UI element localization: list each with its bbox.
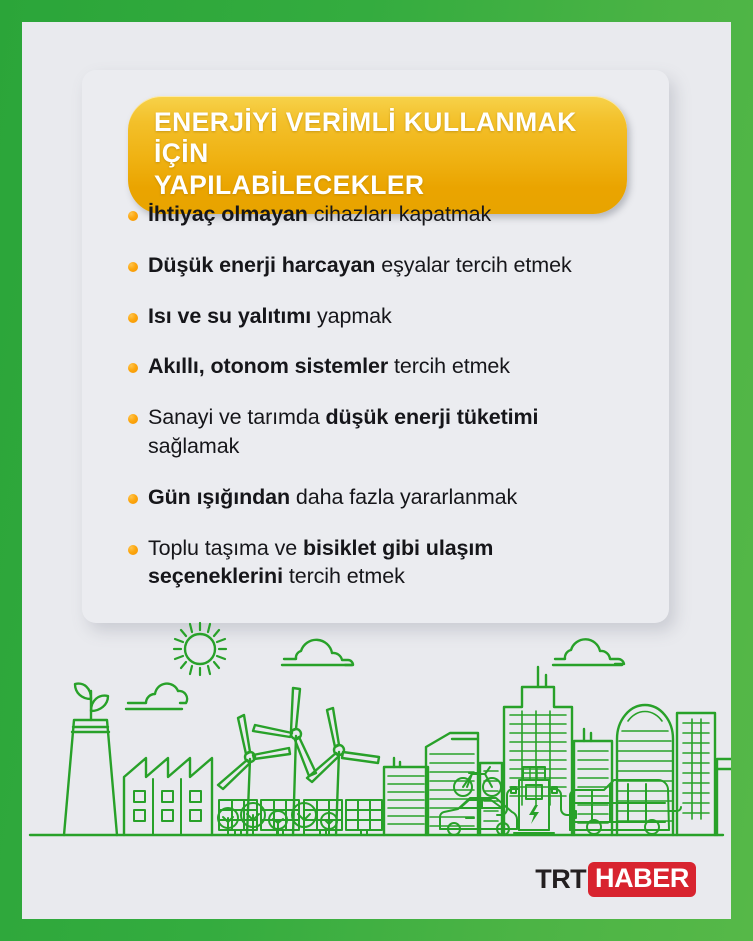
list-item-bold-lead: Akıllı, otonom sistemler: [148, 354, 388, 378]
list-item-bold-lead: Düşük enerji harcayan: [148, 253, 375, 277]
logo-haber-badge: HABER: [588, 862, 696, 897]
title-banner: ENERJİYİ VERİMLİ KULLANMAK İÇİN YAPILABİ…: [128, 96, 627, 214]
factory-building-icon: [124, 758, 212, 835]
list-item-bold-lead: Gün ışığından: [148, 485, 290, 509]
list-item: Toplu taşıma ve bisiklet gibi ulaşım seç…: [128, 534, 633, 592]
list-item: Isı ve su yalıtımı yapmak: [128, 302, 633, 331]
bullet-icon: [128, 414, 138, 424]
bullet-icon: [128, 211, 138, 221]
tips-list: İhtiyaç olmayan cihazları kapatmak Düşük…: [128, 200, 633, 591]
list-item-text: cihazları kapatmak: [308, 202, 491, 226]
sun-icon: [174, 623, 226, 675]
bullet-icon: [128, 545, 138, 555]
bullet-icon: [128, 313, 138, 323]
building-icon: [677, 713, 715, 835]
cloud-icon: [282, 640, 353, 665]
list-item: Akıllı, otonom sistemler tercih etmek: [128, 352, 633, 381]
trt-haber-logo: TRT HABER: [535, 862, 696, 897]
list-item-text: eşyalar tercih etmek: [375, 253, 571, 277]
cloud-icon: [553, 639, 624, 665]
ev-charger-icon: [497, 767, 571, 833]
solar-panel-icon: [346, 800, 382, 835]
cloud-icon: [126, 684, 187, 709]
bullet-icon: [128, 363, 138, 373]
content-card: ENERJİYİ VERİMLİ KULLANMAK İÇİN YAPILABİ…: [82, 70, 669, 623]
list-item-text-end: sağlamak: [148, 434, 239, 458]
list-item-text: Sanayi ve tarımda: [148, 405, 325, 429]
bullet-icon: [128, 262, 138, 272]
list-item: Sanayi ve tarımda düşük enerji tüketimi …: [128, 403, 633, 461]
list-item-bold-tail: düşük enerji tüketimi: [325, 405, 538, 429]
list-item-text: Toplu taşıma ve: [148, 536, 303, 560]
list-item: İhtiyaç olmayan cihazları kapatmak: [128, 200, 633, 229]
list-item: Gün ışığından daha fazla yararlanmak: [128, 483, 633, 512]
factory-icon: [64, 720, 117, 835]
bullet-icon: [128, 494, 138, 504]
list-item-bold-lead: İhtiyaç olmayan: [148, 202, 308, 226]
leaf-icon: [75, 684, 108, 720]
building-icon: [426, 733, 478, 835]
logo-trt-text: TRT: [535, 864, 586, 895]
building-icon: [717, 759, 731, 835]
list-item-text: tercih etmek: [388, 354, 510, 378]
poster-frame: ENERJİYİ VERİMLİ KULLANMAK İÇİN YAPILABİ…: [0, 0, 753, 941]
poster-page: ENERJİYİ VERİMLİ KULLANMAK İÇİN YAPILABİ…: [22, 22, 731, 919]
list-item-text: daha fazla yararlanmak: [290, 485, 517, 509]
eco-city-illustration: [22, 619, 731, 869]
title-banner-wrapper: ENERJİYİ VERİMLİ KULLANMAK İÇİN YAPILABİ…: [128, 96, 627, 214]
list-item-bold-lead: Isı ve su yalıtımı: [148, 304, 311, 328]
building-icon: [384, 758, 428, 835]
list-item: Düşük enerji harcayan eşyalar tercih etm…: [128, 251, 633, 280]
list-item-text: yapmak: [311, 304, 392, 328]
bus-icon: [570, 780, 681, 834]
page-title: ENERJİYİ VERİMLİ KULLANMAK İÇİN YAPILABİ…: [154, 107, 601, 201]
list-item-text-end: tercih etmek: [283, 564, 405, 588]
